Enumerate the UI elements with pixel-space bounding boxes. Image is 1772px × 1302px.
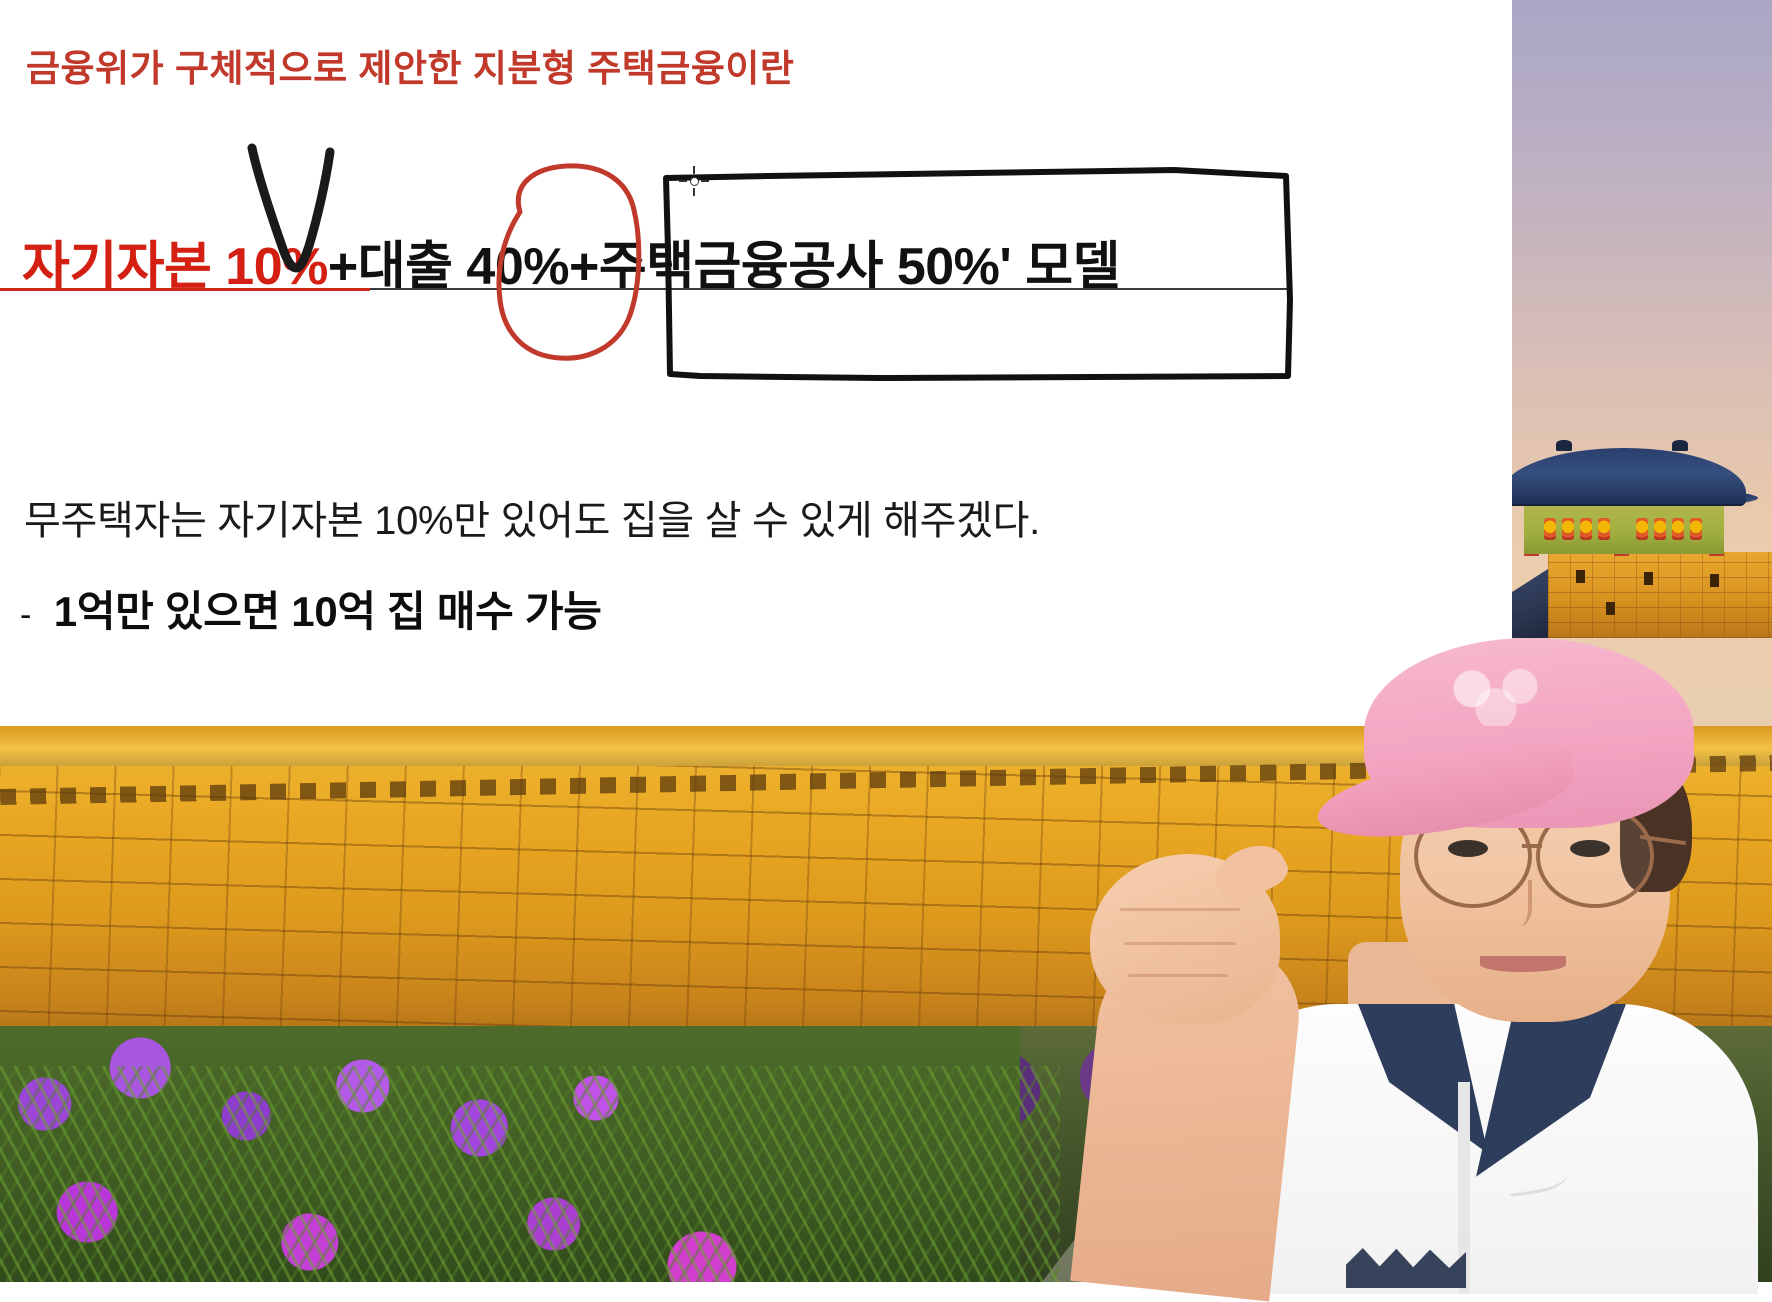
dancheong-motif <box>1580 518 1592 540</box>
nose <box>1502 880 1532 926</box>
cursor-tick-right <box>701 180 709 182</box>
formula-underline-black <box>370 288 1288 290</box>
dancheong-motif <box>1654 518 1666 540</box>
crosshair-cursor[interactable] <box>679 166 709 196</box>
fortress-gate <box>1512 432 1772 632</box>
page-title: 금융위가 구체적으로 제안한 지분형 주택금융이란 <box>26 38 794 92</box>
dancheong-motif <box>1672 518 1684 540</box>
body-text-line-2: - 1억만 있으면 10억 집 매수 가능 <box>20 578 602 639</box>
formula-underline-red <box>0 288 370 291</box>
knuckle-line <box>1120 908 1240 911</box>
cursor-ring <box>690 177 699 186</box>
roof-finial <box>1672 440 1688 451</box>
knuckle-line <box>1128 974 1228 977</box>
wall-loophole <box>1576 570 1585 583</box>
body-text-line-1: 무주택자는 자기자본 10%만 있어도 집을 살 수 있게 해주겠다. <box>24 488 1040 546</box>
dancheong-motif <box>1562 518 1574 540</box>
bullet-dash: - <box>20 596 31 634</box>
bullet-text: 1억만 있으면 10억 집 매수 가능 <box>54 588 602 635</box>
cap-embroidery <box>1436 664 1556 726</box>
dancheong-motif <box>1544 518 1556 540</box>
foliage-texture <box>0 1066 1060 1282</box>
wall-loophole <box>1710 574 1719 587</box>
glasses-bridge <box>1522 844 1542 848</box>
cursor-tick-bottom <box>693 188 695 196</box>
headline-prefix: 금융위가 구체적으로 제안한 <box>26 48 473 89</box>
webcam-presenter <box>1028 612 1772 1282</box>
headline-emphasis: 지분형 주택금융이란 <box>473 48 795 89</box>
mouth <box>1480 956 1566 972</box>
wall-loophole <box>1644 572 1653 585</box>
slide-canvas: 금융위가 구체적으로 제안한 지분형 주택금융이란 자기자본 10% + 대출 … <box>0 0 1772 1282</box>
dancheong-motif <box>1690 518 1702 540</box>
roof-finial <box>1556 440 1572 451</box>
dancheong-motif <box>1636 518 1648 540</box>
dancheong-motif <box>1598 518 1610 540</box>
cursor-tick-left <box>679 180 687 182</box>
cursor-tick-top <box>693 166 695 174</box>
gate-roof <box>1512 448 1746 504</box>
knuckle-line <box>1124 942 1236 945</box>
